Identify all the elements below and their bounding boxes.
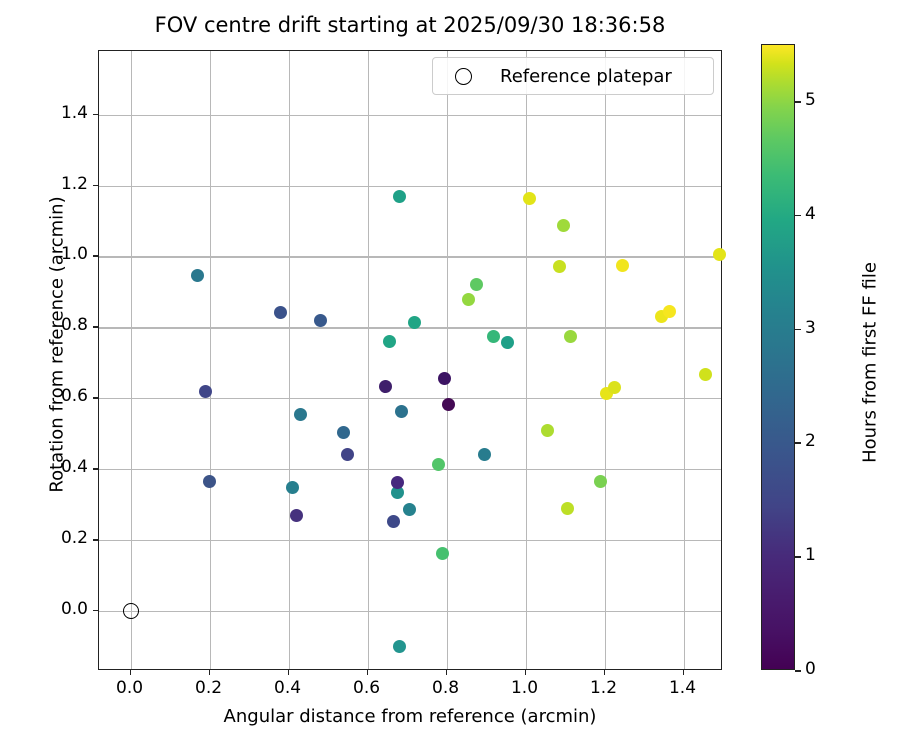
- scatter-point: [274, 306, 287, 319]
- x-tick-label: 0.2: [179, 678, 239, 698]
- scatter-point: [393, 190, 406, 203]
- scatter-point: [594, 475, 607, 488]
- y-tick: [93, 539, 98, 541]
- scatter-point: [391, 476, 404, 489]
- y-tick: [93, 255, 98, 257]
- x-tick: [683, 670, 685, 675]
- x-tick-label: 0.0: [100, 678, 160, 698]
- scatter-point: [487, 330, 500, 343]
- scatter-point: [608, 381, 621, 394]
- x-axis-label: Angular distance from reference (arcmin): [98, 706, 722, 727]
- colorbar-tick-label: 0: [805, 659, 816, 679]
- y-tick: [93, 185, 98, 187]
- scatter-point: [699, 368, 712, 381]
- scatter-point: [286, 481, 299, 494]
- scatter-point: [203, 475, 216, 488]
- colorbar-tick: [795, 442, 801, 444]
- x-tick: [525, 670, 527, 675]
- colorbar-tick-label: 1: [805, 545, 816, 565]
- legend-reference-platepar-icon: [455, 68, 472, 85]
- colorbar-tick: [795, 215, 801, 217]
- scatter-point: [199, 385, 212, 398]
- x-tick-label: 1.0: [495, 678, 555, 698]
- x-tick: [209, 670, 211, 675]
- y-axis-label: Rotation from reference (arcmin): [47, 35, 68, 655]
- colorbar-tick: [795, 556, 801, 558]
- y-tick: [93, 114, 98, 116]
- y-tick: [93, 326, 98, 328]
- colorbar-gradient: [761, 44, 795, 670]
- scatter-point: [564, 330, 577, 343]
- scatter-points-layer: [99, 51, 721, 669]
- x-tick: [130, 670, 132, 675]
- scatter-point: [432, 458, 445, 471]
- y-tick: [93, 397, 98, 399]
- colorbar-tick-label: 3: [805, 318, 816, 338]
- y-tick: [93, 610, 98, 612]
- scatter-point: [395, 405, 408, 418]
- x-tick-label: 0.8: [416, 678, 476, 698]
- scatter-point: [387, 515, 400, 528]
- scatter-point: [294, 408, 307, 421]
- scatter-point: [290, 509, 303, 522]
- plot-area: [98, 50, 722, 670]
- scatter-point: [408, 316, 421, 329]
- colorbar-tick-label: 5: [805, 90, 816, 110]
- colorbar-tick: [795, 670, 801, 672]
- scatter-point: [436, 547, 449, 560]
- scatter-point: [438, 372, 451, 385]
- scatter-point: [523, 192, 536, 205]
- scatter-point: [663, 305, 676, 318]
- scatter-point: [341, 448, 354, 461]
- scatter-point: [393, 640, 406, 653]
- scatter-point: [383, 335, 396, 348]
- colorbar-label: Hours from first FF file: [860, 53, 881, 673]
- legend: Reference platepar: [432, 57, 714, 95]
- x-tick-label: 0.4: [258, 678, 318, 698]
- x-tick: [288, 670, 290, 675]
- scatter-point: [616, 259, 629, 272]
- scatter-point: [561, 502, 574, 515]
- x-tick: [446, 670, 448, 675]
- scatter-point: [541, 424, 554, 437]
- legend-entry-label: Reference platepar: [500, 66, 672, 87]
- scatter-point: [191, 269, 204, 282]
- scatter-point: [501, 336, 514, 349]
- scatter-point: [337, 426, 350, 439]
- colorbar-tick: [795, 101, 801, 103]
- x-tick-label: 1.2: [574, 678, 634, 698]
- scatter-point: [379, 380, 392, 393]
- scatter-point: [713, 248, 726, 261]
- scatter-point: [470, 278, 483, 291]
- figure-root: FOV centre drift starting at 2025/09/30 …: [0, 0, 900, 750]
- reference-platepar-marker: [123, 603, 139, 619]
- colorbar-tick-label: 2: [805, 431, 816, 451]
- x-tick-label: 1.4: [653, 678, 713, 698]
- scatter-point: [442, 398, 455, 411]
- scatter-point: [462, 293, 475, 306]
- scatter-point: [553, 260, 566, 273]
- scatter-point: [403, 503, 416, 516]
- x-tick: [604, 670, 606, 675]
- colorbar-tick: [795, 329, 801, 331]
- scatter-point: [557, 219, 570, 232]
- scatter-point: [478, 448, 491, 461]
- scatter-point: [314, 314, 327, 327]
- chart-title: FOV centre drift starting at 2025/09/30 …: [98, 12, 722, 38]
- x-tick-label: 0.6: [337, 678, 397, 698]
- x-tick: [367, 670, 369, 675]
- colorbar-tick-label: 4: [805, 204, 816, 224]
- y-tick: [93, 468, 98, 470]
